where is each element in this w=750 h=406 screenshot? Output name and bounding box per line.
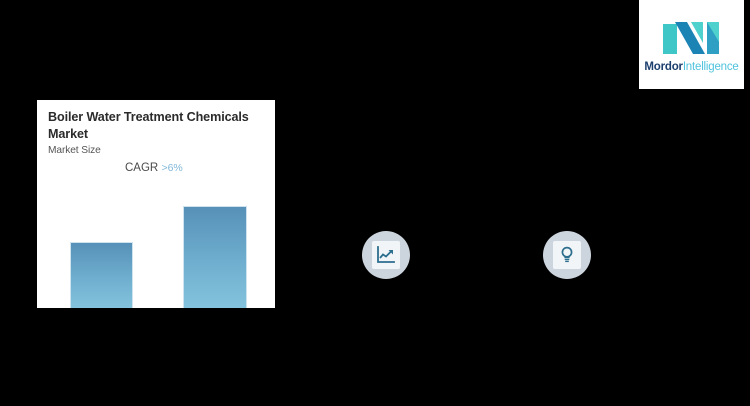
market-size-card: Boiler Water Treatment Chemicals Market … <box>37 100 275 308</box>
growth-chart-icon-inner <box>372 241 400 269</box>
lightbulb-icon-inner <box>553 241 581 269</box>
logo-word-bold: Mordor <box>644 61 682 73</box>
growth-chart-glyph <box>376 245 396 265</box>
mordor-logo-wordmark: MordorIntelligence <box>644 62 738 74</box>
logo-word-light: Intelligence <box>683 61 739 73</box>
lightbulb-glyph <box>557 245 577 265</box>
bar-forecast-year <box>183 206 247 308</box>
growth-chart-icon <box>362 231 410 279</box>
card-subtitle: Market Size <box>48 145 101 156</box>
cagr-label: CAGR <box>125 162 158 174</box>
mordor-intelligence-logo-card: MordorIntelligence <box>639 0 744 89</box>
page-title: Boiler Water Treatment Chemicals Market <box>48 109 262 143</box>
lightbulb-icon <box>543 231 591 279</box>
bar-base-year <box>70 242 133 308</box>
cagr-value: >6% <box>161 162 182 174</box>
mordor-logo-mark <box>661 16 723 58</box>
cagr-annotation: CAGR >6% <box>125 162 183 174</box>
